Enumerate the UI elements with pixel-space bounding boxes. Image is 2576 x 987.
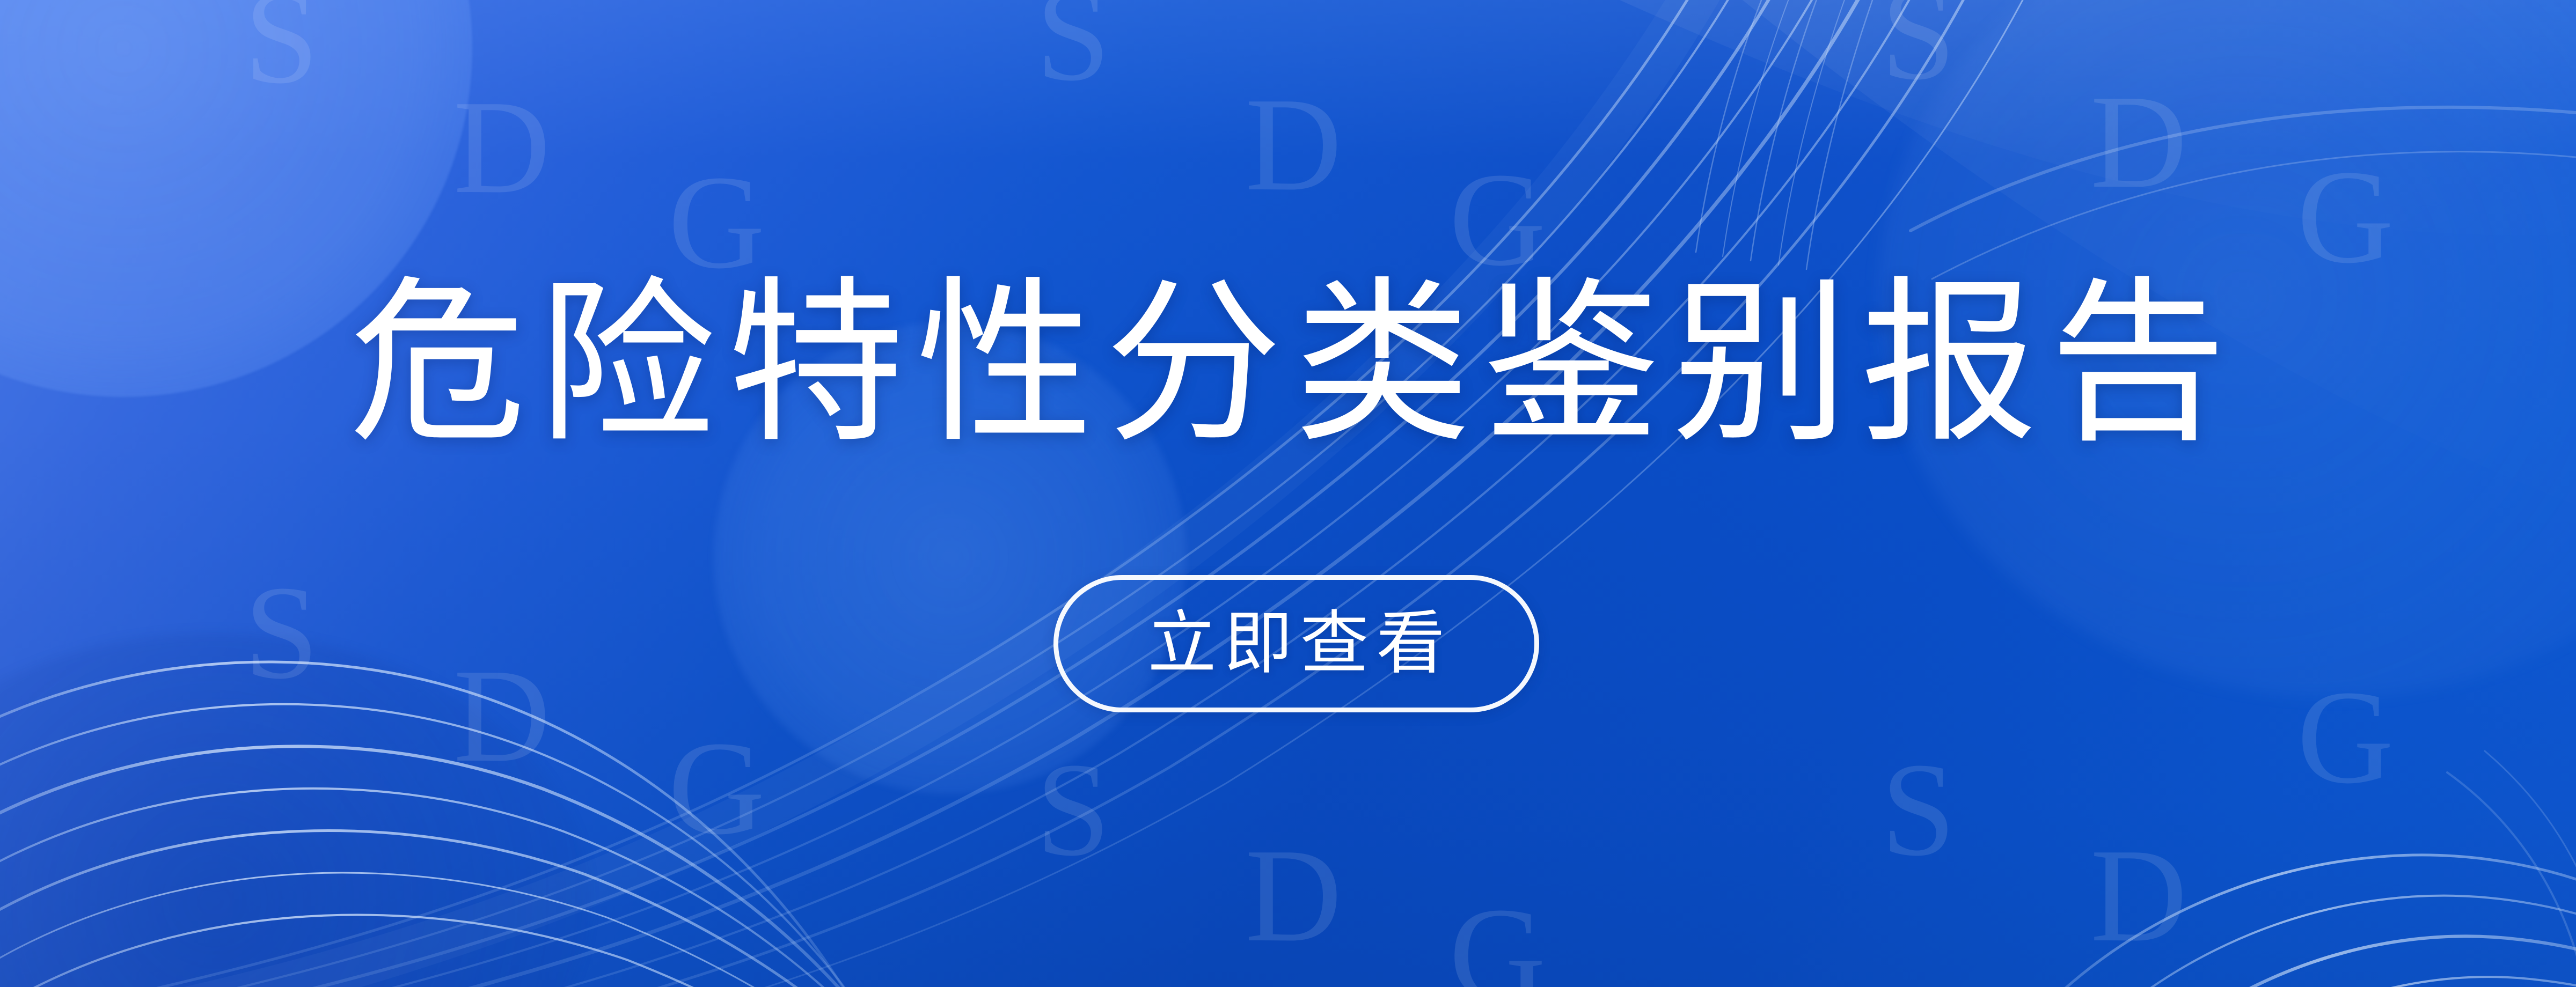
view-now-button[interactable]: 立即查看 [1053,575,1539,712]
banner-content: 危险特性分类鉴别报告 立即查看 [0,0,2576,987]
promo-banner: SDGSDGSDGSDGSDGSDG 危险特性分类鉴别报告 立即查看 [0,0,2576,987]
banner-title: 危险特性分类鉴别报告 [0,268,2576,459]
view-now-button-label: 立即查看 [1140,609,1452,678]
